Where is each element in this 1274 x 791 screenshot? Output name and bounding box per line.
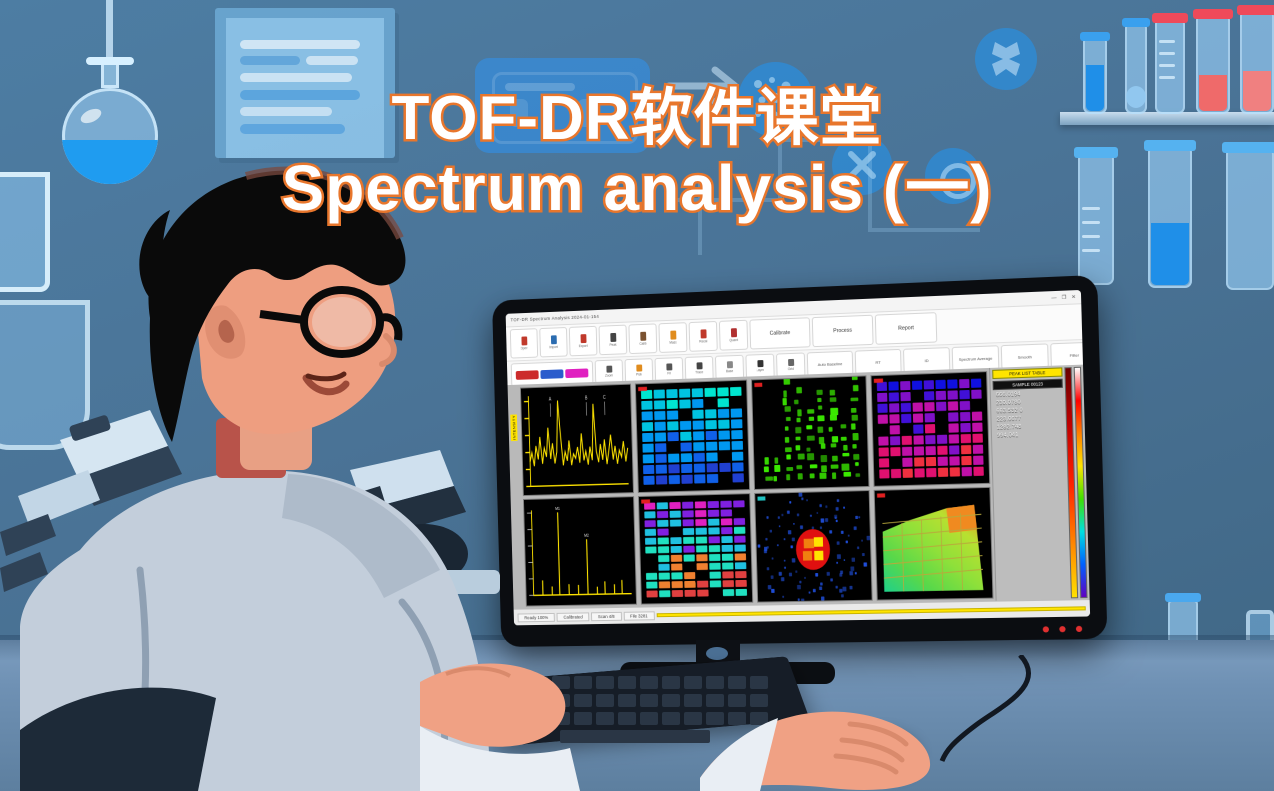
device-card-slot-b <box>578 99 596 127</box>
doc-line <box>240 40 360 49</box>
test-tube <box>1226 150 1274 290</box>
side-panel-subheader: SAMPLE 00123 <box>993 379 1063 391</box>
plot-canvas <box>752 376 868 488</box>
test-tube <box>1240 12 1274 114</box>
ribbon-label: Export <box>579 344 588 348</box>
ribbon-label: Quant <box>729 338 738 342</box>
scientist-right-hand <box>700 660 960 791</box>
side-info-column: PEAK LIST TABLE SAMPLE 00123 666.0194 23… <box>992 367 1069 599</box>
poster-scene: TOF-DR Spectrum Analysis 2024-01-154 — ❐… <box>0 0 1274 791</box>
doc-line <box>240 73 352 82</box>
side-results-panel: PEAK LIST TABLE SAMPLE 00123 666.0194 23… <box>989 365 1090 602</box>
panel-7-radial[interactable] <box>754 490 872 603</box>
test-tube <box>1078 155 1114 285</box>
tool-icon <box>757 360 763 367</box>
side-value: 223.0677 <box>994 414 1064 422</box>
ribbon-spacer <box>938 306 1078 342</box>
panel-4-blue-pink[interactable] <box>870 371 990 486</box>
doc-line <box>240 56 300 65</box>
tool-label: Trace <box>695 370 703 374</box>
ribbon-button[interactable]: Import <box>539 327 567 357</box>
tool-label: Layer <box>756 368 764 372</box>
flask-collar <box>86 57 134 65</box>
ribbon-label: Recal <box>699 339 707 343</box>
doc-line <box>306 56 358 65</box>
color-swatch[interactable] <box>565 368 588 378</box>
side-value: 666.0194 <box>993 390 1063 398</box>
tool-icon <box>726 361 732 368</box>
svg-text:B: B <box>585 395 588 401</box>
power-led <box>1043 626 1049 632</box>
side-value: 230.0780 <box>993 398 1063 406</box>
plot-canvas <box>755 491 871 602</box>
flask-highlight <box>78 106 103 126</box>
color-swatch[interactable] <box>516 370 539 380</box>
tool-icon <box>636 365 642 372</box>
close-button[interactable]: ✕ <box>1071 294 1076 300</box>
ribbon-button[interactable]: Quant <box>719 320 748 351</box>
side-panel-header: PEAK LIST TABLE <box>992 367 1062 379</box>
ribbon-icon <box>521 336 527 345</box>
ribbon-button[interactable]: Export <box>569 326 598 357</box>
ribbon-icon <box>610 333 616 342</box>
panel-8-surface[interactable] <box>873 486 993 600</box>
maximize-button[interactable]: ❐ <box>1062 294 1067 300</box>
tool-label: Pick <box>636 372 642 376</box>
plot-canvas <box>871 372 989 485</box>
connector-lines <box>640 80 1040 270</box>
test-tube <box>1148 148 1192 288</box>
device-card-slot-a <box>510 99 528 127</box>
monitor-base-button[interactable] <box>706 647 728 660</box>
ribbon-label: Open <box>520 346 528 350</box>
ribbon-icon <box>580 334 586 343</box>
status-progress <box>656 606 1086 617</box>
side-value: 663.532 0 <box>993 406 1063 414</box>
tool-label: Base <box>726 369 733 373</box>
power-led <box>1076 626 1082 632</box>
side-value: 1282.748 <box>994 423 1064 431</box>
ribbon-button[interactable]: Recal <box>689 321 718 352</box>
ribbon-label: Calib <box>639 342 646 346</box>
ribbon-button[interactable]: Mass <box>658 322 687 353</box>
ribbon-label: Peak <box>609 343 616 347</box>
ribbon-icon <box>730 328 736 337</box>
flask-hanger <box>106 0 113 62</box>
ribbon-label: Mass <box>669 340 677 344</box>
ribbon-wide-button[interactable]: Process <box>812 315 874 347</box>
scientist-head <box>110 150 450 480</box>
butterfly-icon <box>985 38 1027 80</box>
scientist-left-hand <box>420 630 620 791</box>
graduated-cylinder <box>1125 24 1147 114</box>
ribbon-wide-button[interactable]: Calibrate <box>749 317 810 349</box>
tool-icon <box>696 362 702 369</box>
tool-icon <box>788 359 794 366</box>
tool-label: Grid <box>788 367 794 371</box>
ribbon-icon <box>640 332 646 341</box>
ribbon-label: Import <box>549 345 558 349</box>
wall-document-page <box>226 18 384 158</box>
device-card-bar <box>505 83 575 91</box>
tool-icon <box>606 366 612 373</box>
ribbon-button[interactable]: Peak <box>599 325 628 356</box>
color-swatch[interactable] <box>540 369 563 379</box>
cylinder-bulb <box>1126 86 1146 108</box>
tool-label: Fit <box>667 371 671 375</box>
doc-line <box>240 124 345 134</box>
doc-line <box>240 107 332 116</box>
beaker-red-cap <box>1196 16 1230 114</box>
beaker-left <box>0 172 50 292</box>
ribbon-icon <box>700 329 706 338</box>
panel-3-green-blocks[interactable] <box>751 375 869 489</box>
tool-label: Zoom <box>605 373 613 377</box>
ribbon-button[interactable]: Open <box>510 328 538 358</box>
ribbon-icon <box>670 331 676 340</box>
ribbon-button[interactable]: Calib <box>628 323 657 354</box>
test-tube <box>1155 20 1185 114</box>
side-value: 994.041 <box>994 431 1064 439</box>
ribbon-icon <box>550 335 556 344</box>
ribbon-wide-button[interactable]: Report <box>875 312 938 345</box>
minimize-button[interactable]: — <box>1051 295 1056 301</box>
window-title: TOF-DR Spectrum Analysis 2024-01-154 <box>510 314 599 323</box>
tool-icon <box>666 363 672 370</box>
power-led <box>1059 626 1065 632</box>
plot-canvas <box>874 487 992 599</box>
test-tube <box>1083 38 1107 114</box>
doc-line <box>240 90 360 100</box>
window-controls[interactable]: — ❐ ✕ <box>1051 294 1076 301</box>
